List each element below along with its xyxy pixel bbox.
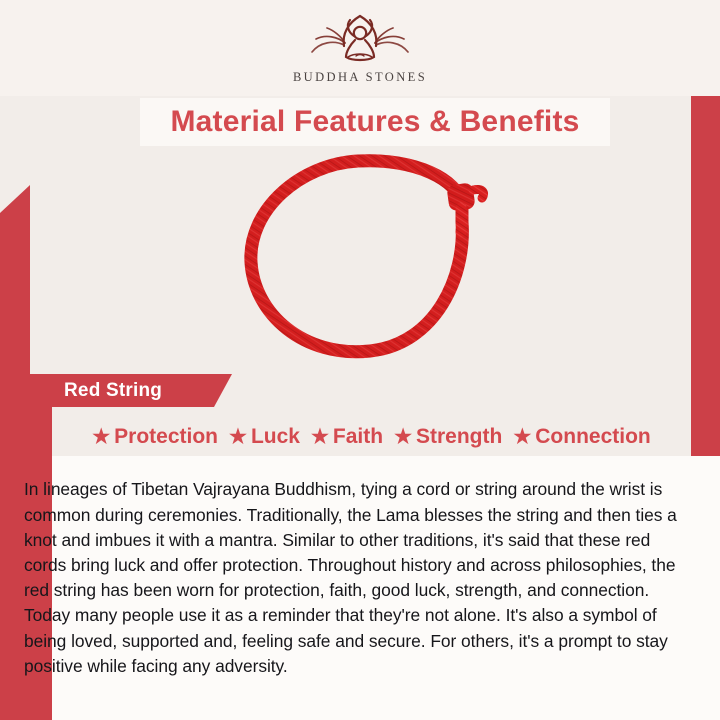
feature-item-luck: ★ Luck xyxy=(229,425,300,449)
star-icon: ★ xyxy=(513,427,531,447)
feature-item-protection: ★ Protection xyxy=(92,425,218,449)
red-string-bracelet-image xyxy=(230,150,500,378)
star-icon: ★ xyxy=(311,427,329,447)
star-icon: ★ xyxy=(229,427,247,447)
feature-label: Protection xyxy=(114,425,218,449)
features-list: ★ Protection ★ Luck ★ Faith ★ Strength ★… xyxy=(52,418,691,456)
feature-label: Connection xyxy=(535,425,651,449)
feature-item-strength: ★ Strength xyxy=(394,425,502,449)
description-paragraph: In lineages of Tibetan Vajrayana Buddhis… xyxy=(24,477,692,679)
infographic-canvas: BUDDHA STONES Material Features & Benefi… xyxy=(0,0,720,720)
feature-label: Faith xyxy=(333,425,383,449)
brand-header: BUDDHA STONES xyxy=(0,0,720,96)
brand-logo: BUDDHA STONES xyxy=(0,12,720,85)
brand-name: BUDDHA STONES xyxy=(293,70,427,85)
product-name-banner: Red String xyxy=(0,374,232,407)
product-image-area xyxy=(30,150,691,378)
page-title: Material Features & Benefits xyxy=(170,105,579,139)
feature-label: Luck xyxy=(251,425,300,449)
feature-item-connection: ★ Connection xyxy=(513,425,650,449)
star-icon: ★ xyxy=(92,427,110,447)
feature-item-faith: ★ Faith xyxy=(311,425,383,449)
feature-label: Strength xyxy=(416,425,502,449)
description-area: In lineages of Tibetan Vajrayana Buddhis… xyxy=(52,456,720,720)
star-icon: ★ xyxy=(394,427,412,447)
lotus-meditation-icon xyxy=(300,12,420,68)
title-banner: Material Features & Benefits xyxy=(140,98,610,146)
product-name-label: Red String xyxy=(64,380,162,402)
